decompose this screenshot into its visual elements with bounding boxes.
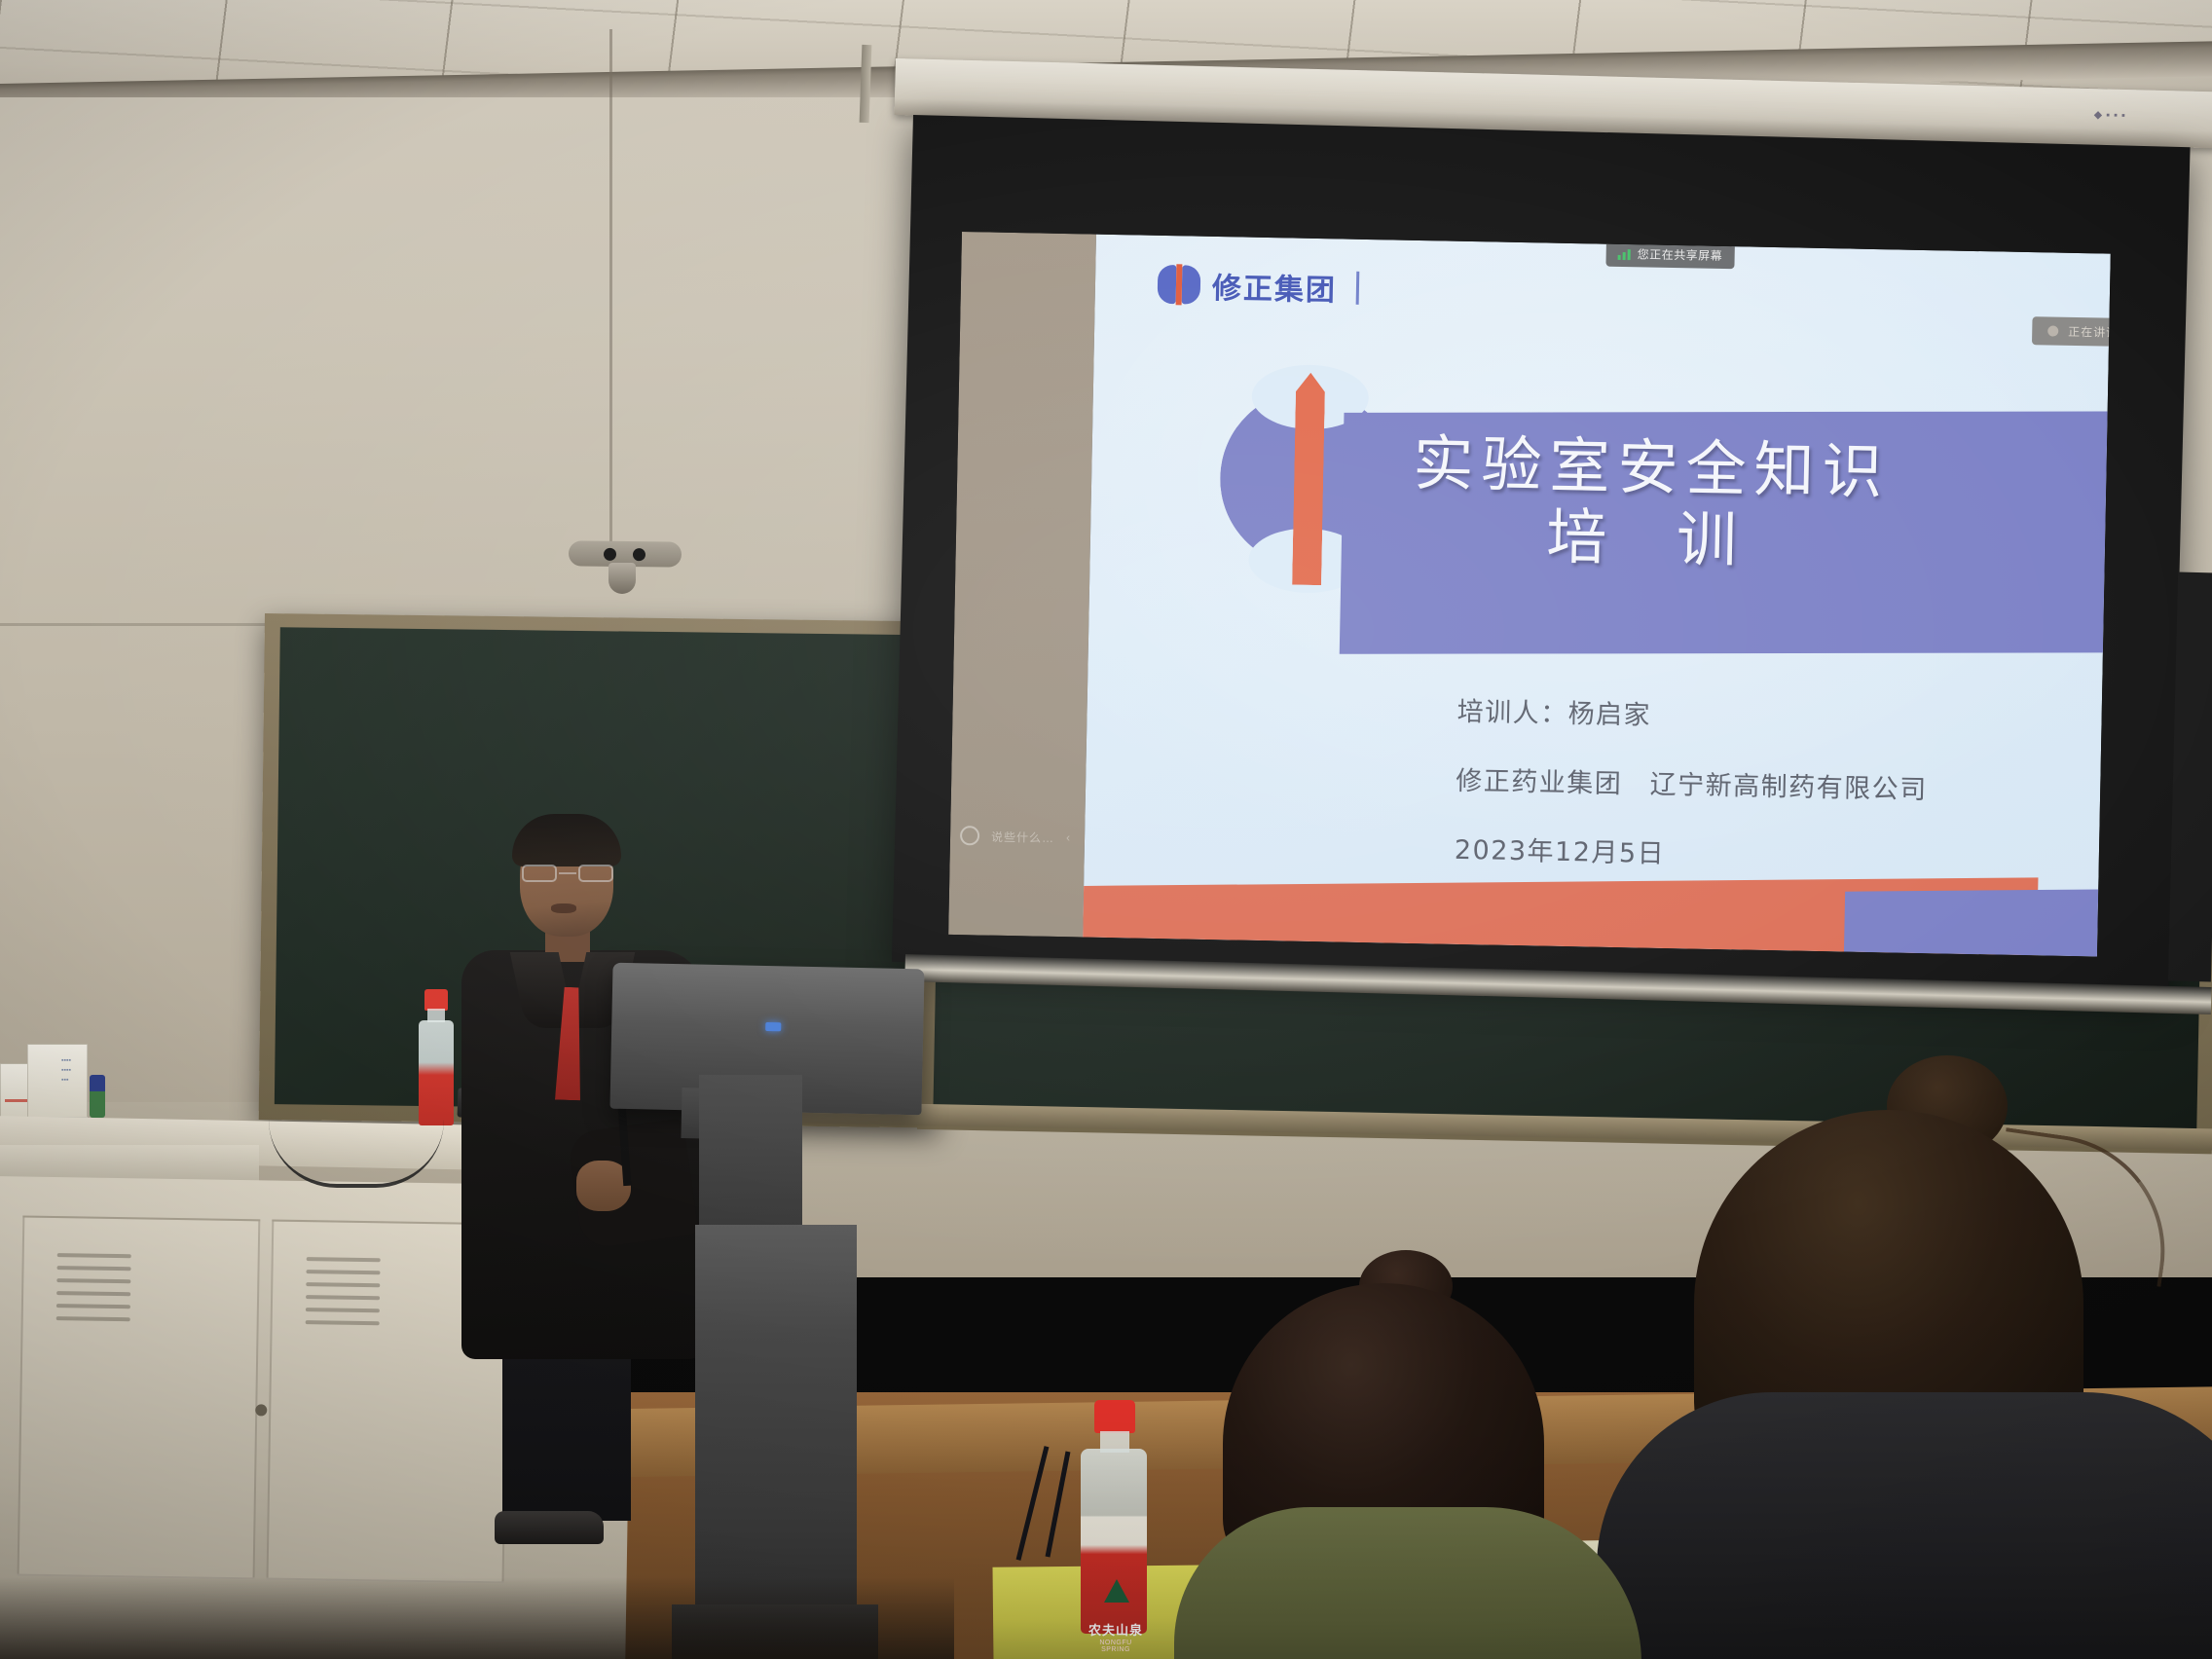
- active-speaker-label: 正在讲话: [2068, 323, 2111, 341]
- projector-dark-gutter: 说些什么… ‹: [948, 232, 1096, 938]
- slide-presenter-line: 培训人：杨启家: [1456, 699, 2080, 737]
- coat-right: [1597, 1392, 2212, 1659]
- classroom-photo-scene: ◆▪▪▪ 说些什么… ‹ 修正集团: [0, 0, 2212, 1659]
- slide-company-line: 修正药业集团 辽宁新高制药有限公司: [1456, 768, 2079, 806]
- small-bottle-on-desk: [90, 1075, 105, 1118]
- logo-center-bar: [1176, 264, 1183, 305]
- bottle-body-foreground: 农夫山泉 NONGFU SPRING: [1081, 1449, 1147, 1634]
- company-logo-text: 修正集团: [1212, 264, 1338, 309]
- glasses-lens-left: [522, 865, 557, 882]
- screen-share-label: 您正在共享屏幕: [1638, 245, 1723, 264]
- box-print: ▪▪▪▪▪▪▪▪▪▪▪: [61, 1056, 71, 1086]
- cabinet-knob[interactable]: [255, 1404, 267, 1416]
- bottle-brand-cn: 农夫山泉: [1085, 1620, 1147, 1639]
- glasses-lens-right: [578, 865, 613, 882]
- presenter-legs: [502, 1346, 631, 1521]
- lectern-column: [699, 1075, 802, 1231]
- logo-divider: [1356, 272, 1360, 305]
- presenter-hair: [512, 814, 621, 866]
- emblem-center-spike: [1292, 373, 1325, 586]
- microphone-icon: [608, 563, 636, 594]
- bottle-cap: [424, 989, 448, 1011]
- signal-bars-icon: [1618, 247, 1631, 259]
- audience-member-front: [1203, 1283, 1612, 1659]
- presenter: [456, 814, 709, 1515]
- bottle-brand-en: NONGFU SPRING: [1085, 1640, 1147, 1653]
- chevron-left-icon[interactable]: ‹: [1066, 830, 1070, 844]
- active-speaker-badge[interactable]: 正在讲话: [2032, 316, 2111, 347]
- glasses-bridge: [559, 872, 576, 874]
- supply-box-large: ▪▪▪▪▪▪▪▪▪▪▪: [27, 1044, 88, 1118]
- presentation-slide: 修正集团 实验室安全知识 培 训 培训人：杨启家 修正药业集团 辽宁新高制药有限…: [1083, 235, 2111, 957]
- bottle-cap-foreground: [1094, 1400, 1135, 1433]
- presenter-shoe: [495, 1511, 604, 1544]
- company-logo: 修正集团: [1158, 263, 1360, 310]
- housing-brand-label: ◆▪▪▪: [2094, 108, 2129, 122]
- record-circle-icon[interactable]: [960, 826, 979, 845]
- water-bottle-foreground: 农夫山泉 NONGFU SPRING: [1079, 1400, 1149, 1634]
- mountain-logo-icon: [1104, 1579, 1129, 1603]
- cabinet-vent-right: [306, 1257, 381, 1334]
- water-bottle-on-desk: [417, 989, 456, 1125]
- xiuzheng-group-mark-icon: [1158, 265, 1201, 305]
- slide-title-band: 实验室安全知识 培 训: [1340, 411, 2111, 653]
- camera-lens-right: [633, 548, 645, 561]
- cabinet-door-left[interactable]: [18, 1216, 261, 1580]
- slide-band-purple: [1843, 889, 2098, 956]
- monitor-power-led: [765, 1022, 781, 1031]
- slide-title-line-1: 实验室安全知识: [1413, 427, 2093, 512]
- meeting-edge-toolbar[interactable]: 说些什么… ‹: [960, 826, 1070, 847]
- bottle-body: [419, 1020, 454, 1125]
- edge-toolbar-label: 说些什么…: [991, 828, 1054, 845]
- audience-member-right: [1636, 1100, 2212, 1659]
- camera-cable: [609, 29, 612, 545]
- glasses-icon: [520, 865, 615, 882]
- speaker-dot-icon: [2047, 325, 2058, 336]
- cabinet-vent-left: [56, 1253, 131, 1330]
- coat-front: [1174, 1507, 1641, 1659]
- camera-lens-left: [604, 548, 616, 561]
- logo-lobe-left: [1158, 265, 1177, 304]
- hair-wisp-right: [1987, 1127, 2180, 1287]
- projected-slide-area: 说些什么… ‹ 修正集团: [948, 232, 2111, 957]
- presenter-mouth: [551, 903, 576, 913]
- foreground-shadow: [0, 1577, 954, 1659]
- slide-title-line-2: 培 训: [1411, 498, 2091, 583]
- logo-lobe-right: [1182, 265, 1201, 304]
